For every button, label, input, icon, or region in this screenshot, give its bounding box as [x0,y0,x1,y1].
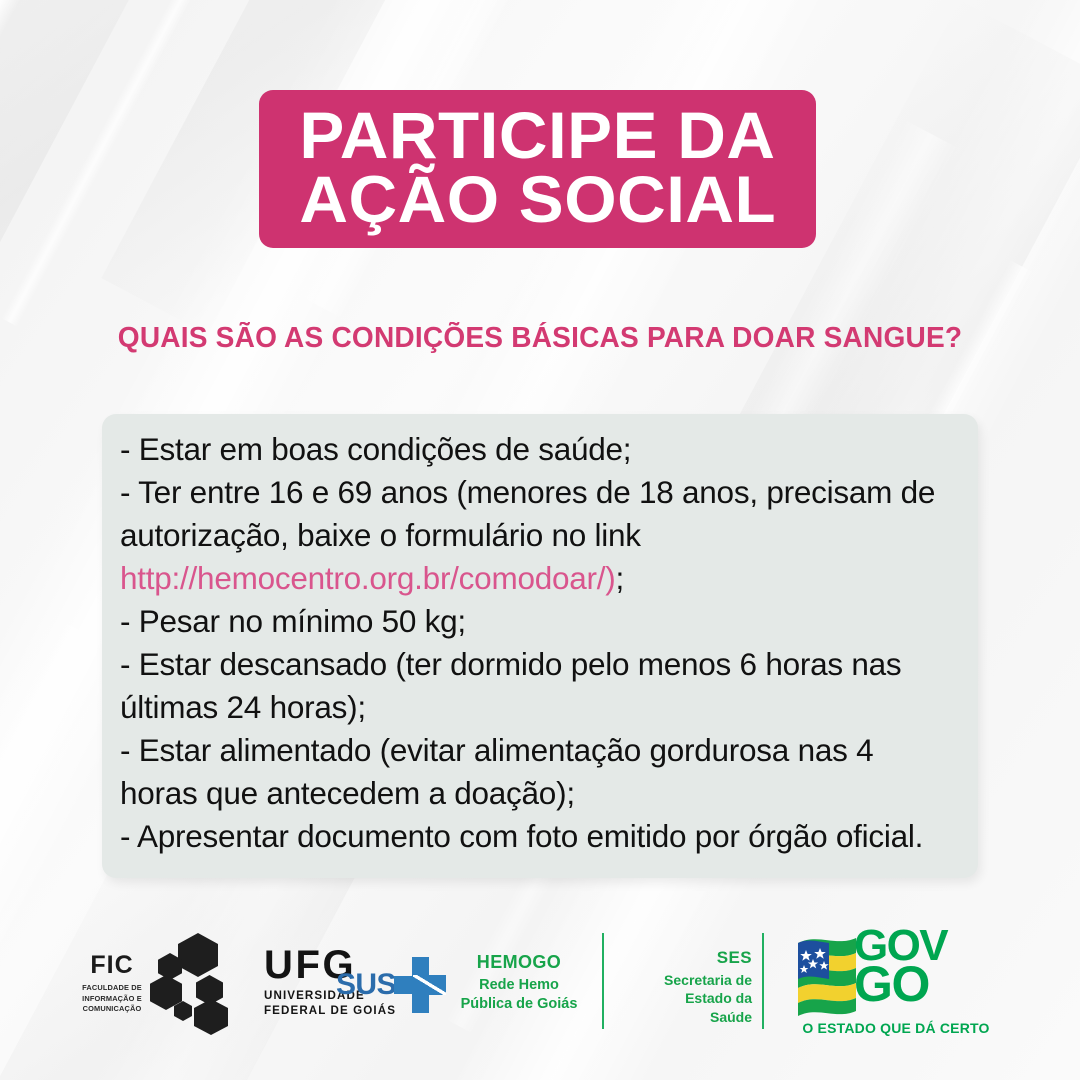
hemocentro-link[interactable]: http://hemocentro.org.br/comodoar/) [120,560,616,596]
ses-subtitle-line-3: Saúde [612,1008,752,1026]
fic-acronym: FIC [72,953,152,978]
fic-subtitle-line-1: FACULDADE DE [72,983,152,994]
requirements-card: - Estar em boas condições de saúde; - Te… [102,414,978,878]
govgo-tagline: O ESTADO QUE DÁ CERTO [798,1020,994,1036]
govgo-logo: GOV GO O ESTADO QUE DÁ CERTO [796,927,996,1039]
sus-acronym: SUS [336,970,396,1000]
hemogo-subtitle-line-2: Pública de Goiás [444,995,594,1014]
ses-subtitle-line-2: Estado da [612,989,752,1007]
requirements-text: - Estar em boas condições de saúde; - Te… [120,428,954,858]
ses-subtitle: Secretaria de Estado da Saúde [612,971,752,1026]
question-heading: QUAIS SÃO AS CONDIÇÕES BÁSICAS PARA DOAR… [8,322,1072,355]
headline-line-2: AÇÃO SOCIAL [299,167,776,231]
footer-logo-bar: FIC FACULDADE DE INFORMAÇÃO E COMUNICAÇÃ… [0,915,1080,1050]
fic-subtitle-line-3: COMUNICAÇÃO [72,1004,152,1015]
sus-cross-icon [394,957,446,1013]
footer-divider-right [762,933,764,1029]
hemogo-logo: HEMOGO Rede Hemo Pública de Goiás [444,953,594,1013]
govgo-wordmark: GOV GO [854,927,999,1019]
ses-acronym: SES [612,949,752,968]
poster-canvas: PARTICIPE DA AÇÃO SOCIAL QUAIS SÃO AS CO… [0,0,1080,1080]
hemogo-subtitle-line-1: Rede Hemo [444,976,594,995]
requirements-segment-1: - Estar em boas condições de saúde; - Te… [120,431,944,553]
govgo-line-2: GO [854,963,999,1006]
ufg-hexagon-icon [150,931,255,1035]
hemogo-title: HEMOGO [444,953,594,973]
fic-subtitle-line-2: INFORMAÇÃO E [72,994,152,1005]
headline-line-1: PARTICIPE DA [299,103,775,167]
ses-subtitle-line-1: Secretaria de [612,971,752,989]
footer-divider-left [602,933,604,1029]
requirements-segment-3: ; - Pesar no mínimo 50 kg; - Estar desca… [120,560,923,854]
fic-logo: FIC FACULDADE DE INFORMAÇÃO E COMUNICAÇÃ… [72,953,152,1015]
ses-logo: SES Secretaria de Estado da Saúde [612,949,752,1026]
hemogo-subtitle: Rede Hemo Pública de Goiás [444,976,594,1014]
fic-subtitle: FACULDADE DE INFORMAÇÃO E COMUNICAÇÃO [72,983,152,1015]
sus-logo: SUS [336,957,446,1013]
background-diagonal-streak [0,0,150,427]
headline-banner: PARTICIPE DA AÇÃO SOCIAL [259,90,816,248]
